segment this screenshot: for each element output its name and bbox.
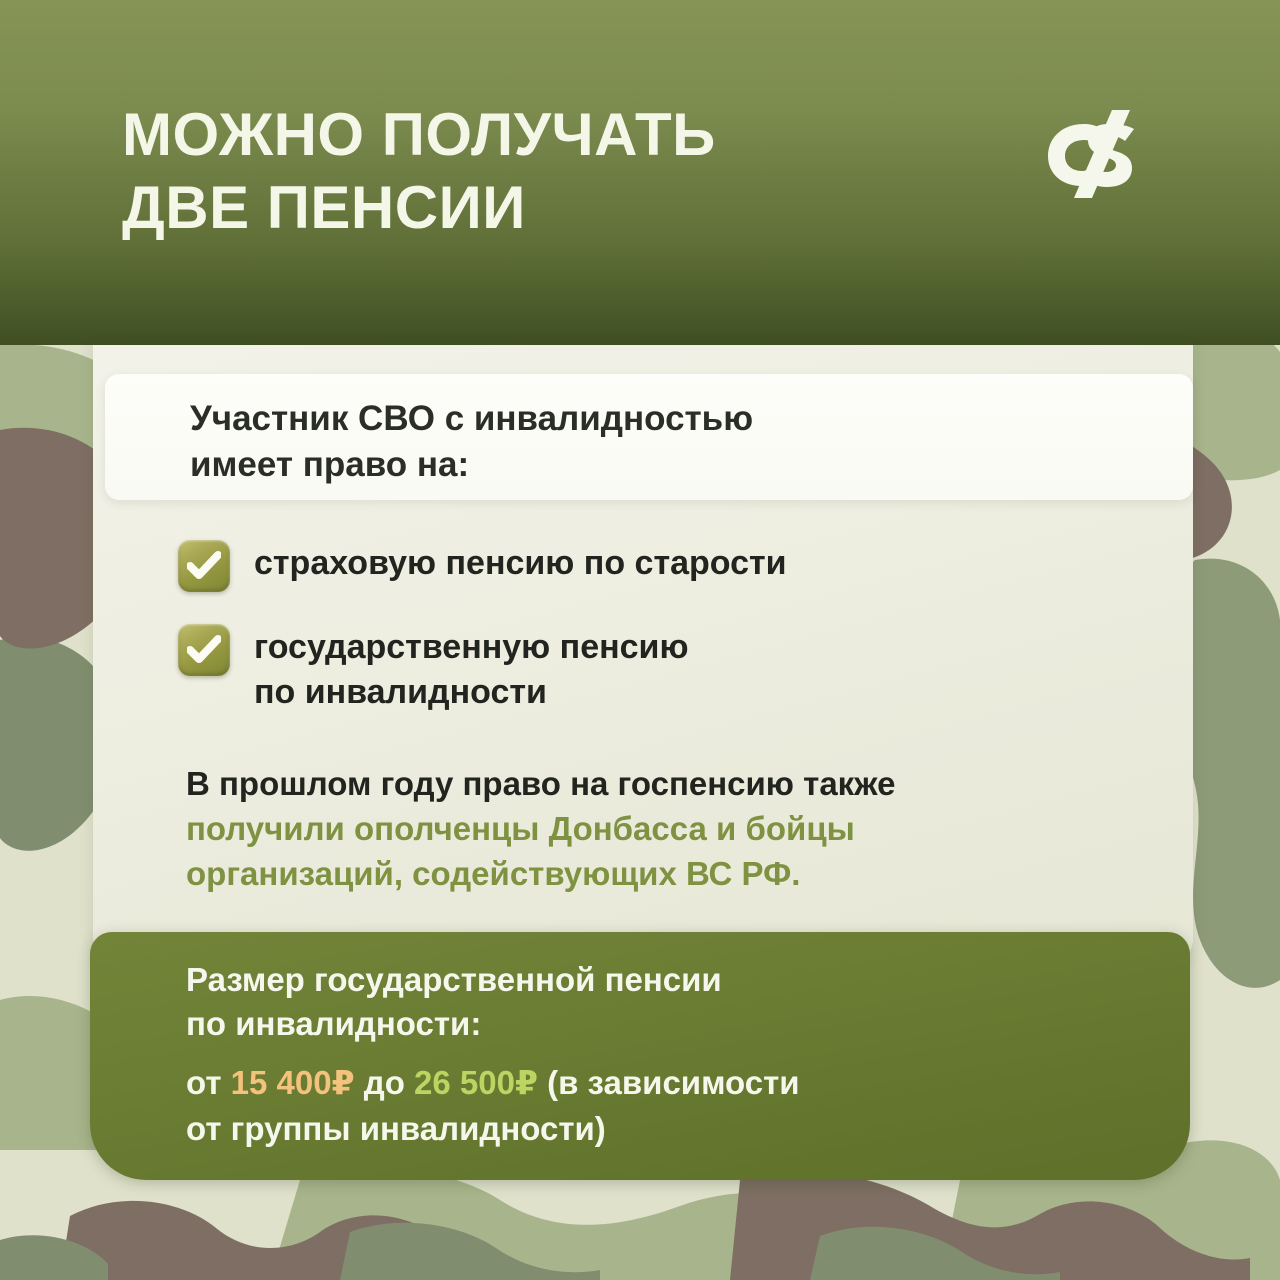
infographic-poster: МОЖНО ПОЛУЧАТЬ ДВЕ ПЕНСИИ Участник СВО с… xyxy=(0,0,1280,1280)
page-title: МОЖНО ПОЛУЧАТЬ ДВЕ ПЕНСИИ xyxy=(122,98,982,244)
list-item: страховую пенсию по старости xyxy=(178,538,1138,592)
pension-amount-panel: Размер государственной пенсии по инвалид… xyxy=(90,932,1190,1180)
paragraph-line-2: получили ополченцы Донбасса и бойцы xyxy=(186,807,1146,852)
heading-panel: Участник СВО с инвалидностью имеет право… xyxy=(105,374,1193,500)
amount-middle: до xyxy=(355,1064,414,1101)
amount-line-2: от группы инвалидности) xyxy=(186,1110,606,1147)
amount-min-value: 15 400₽ xyxy=(231,1064,355,1101)
paragraph-line-1: В прошлом году право на госпенсию также xyxy=(186,762,1146,807)
sfr-logo-icon xyxy=(1046,106,1150,198)
amount-prefix: от xyxy=(186,1064,231,1101)
list-item: государственную пенсию по инвалидности xyxy=(178,622,1138,715)
poster-header: МОЖНО ПОЛУЧАТЬ ДВЕ ПЕНСИИ xyxy=(0,0,1280,345)
heading-text: Участник СВО с инвалидностью имеет право… xyxy=(190,396,1130,488)
amount-suffix: (в зависимости xyxy=(538,1064,800,1101)
checkmark-icon xyxy=(178,624,230,676)
panel-amounts: от 15 400₽ до 26 500₽ (в зависимости от … xyxy=(186,1060,1146,1151)
list-item-label: государственную пенсию по инвалидности xyxy=(254,622,688,715)
benefits-checklist: страховую пенсию по старости государстве… xyxy=(178,538,1138,745)
list-item-label: страховую пенсию по старости xyxy=(254,538,787,586)
panel-title: Размер государственной пенсии по инвалид… xyxy=(186,958,1116,1046)
paragraph-line-3: организаций, содействующих ВС РФ. xyxy=(186,852,1146,897)
checkmark-icon xyxy=(178,540,230,592)
amount-max-value: 26 500₽ xyxy=(414,1064,538,1101)
info-paragraph: В прошлом году право на госпенсию также … xyxy=(186,762,1146,897)
